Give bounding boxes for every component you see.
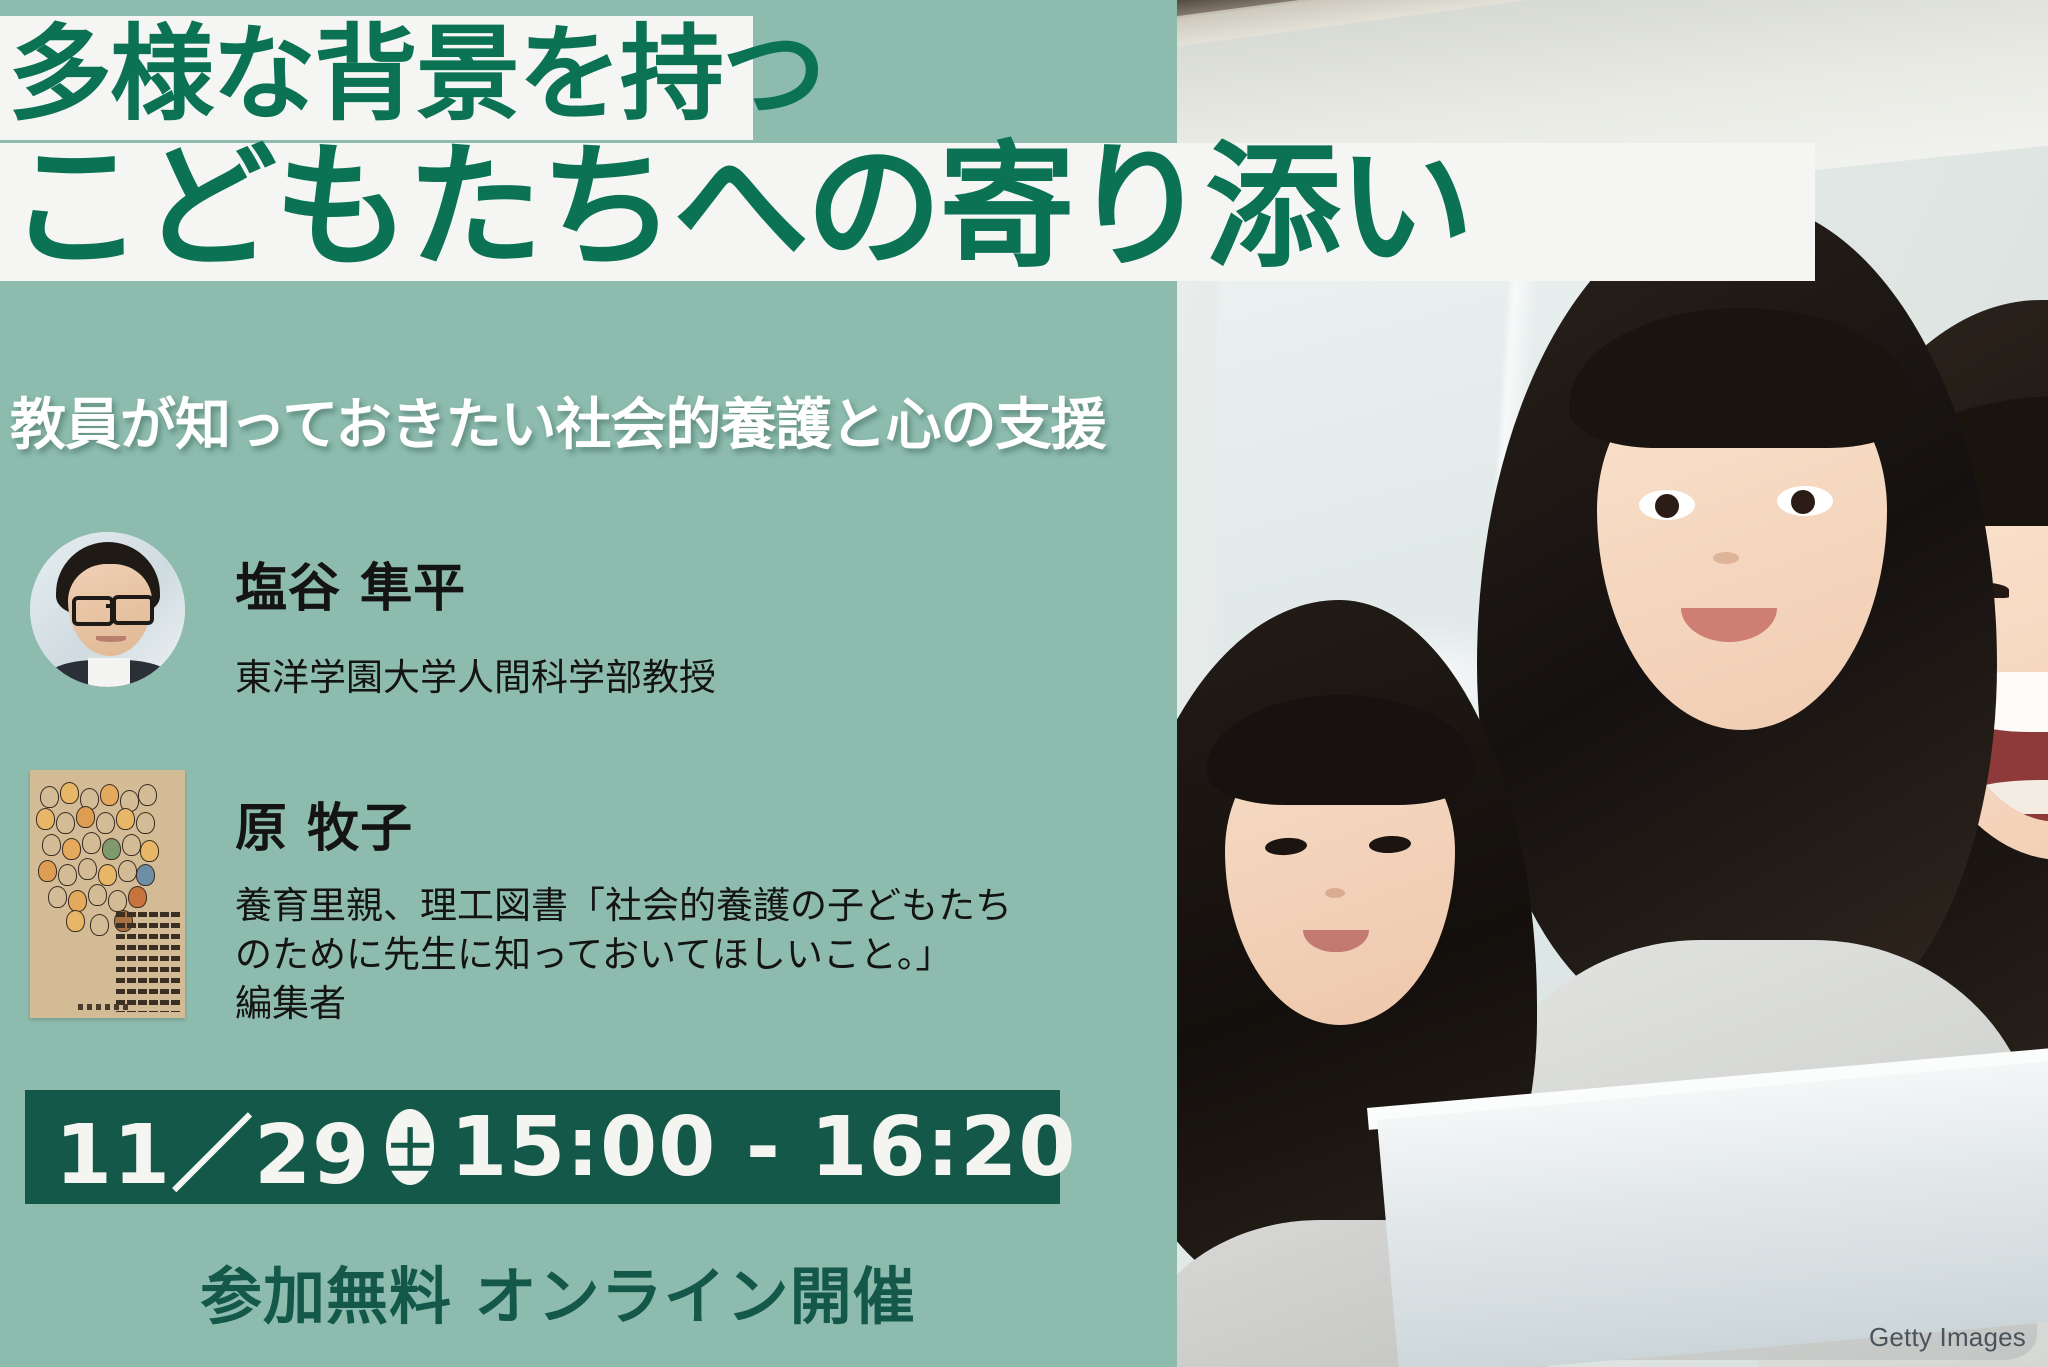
avatar-shirt (88, 658, 130, 687)
getty-images-credit: Getty Images (1869, 1322, 2026, 1353)
speaker-2-bio: 養育里親、理工図書「社会的養護の子どもたち のために先生に知っておいてほしいこと… (235, 882, 1235, 1028)
event-footer-note: 参加無料 オンライン開催 (200, 1246, 916, 1336)
page-title-line-2: こどもたちへの寄り添い (8, 140, 1471, 276)
book-cover-crowd-illustration (36, 782, 156, 932)
speaker-2-name: 原 牧子 (235, 786, 413, 861)
speaker-2-book-cover (30, 770, 185, 1018)
seminar-poster: Getty Images 多様な背景を持つ こどもたちへの寄り添い 教員が知って… (0, 0, 2048, 1367)
glasses-bridge (106, 604, 114, 608)
speaker-2-bio-line-2: のために先生に知っておいてほしいこと。」 (235, 931, 1235, 980)
speaker-1-name: 塩谷 隼平 (235, 546, 466, 621)
event-time-range: 15:00 - 16:20 (450, 1100, 1076, 1195)
speaker-1-role: 東洋学園大学人間科学部教授 (235, 647, 716, 701)
child-middle-eye-right (1777, 486, 1833, 516)
child-middle-nose (1713, 552, 1739, 564)
child-middle-eye-left (1639, 490, 1695, 520)
event-date: 11／29 (55, 1088, 370, 1207)
page-title-line-1: 多様な背景を持つ (8, 22, 824, 126)
book-cover-publisher (78, 1004, 130, 1010)
event-day-of-week-badge: 土 (386, 1109, 434, 1185)
avatar-mouth (96, 636, 126, 642)
book-cover-title-text (90, 912, 180, 1012)
speaker-1-avatar (30, 532, 185, 687)
event-datetime-bar: 11／29 土 15:00 - 16:20 (25, 1090, 1060, 1204)
page-subtitle: 教員が知っておきたい社会的養護と心の支援 (10, 380, 1106, 461)
glasses-icon-left (72, 596, 114, 626)
child-middle (1477, 200, 1997, 1150)
speaker-2-bio-line-1: 養育里親、理工図書「社会的養護の子どもたち (235, 882, 1235, 931)
child-left-nose (1325, 888, 1345, 898)
glasses-icon-right (112, 595, 154, 625)
speaker-2-bio-line-3: 編集者 (235, 980, 1235, 1029)
